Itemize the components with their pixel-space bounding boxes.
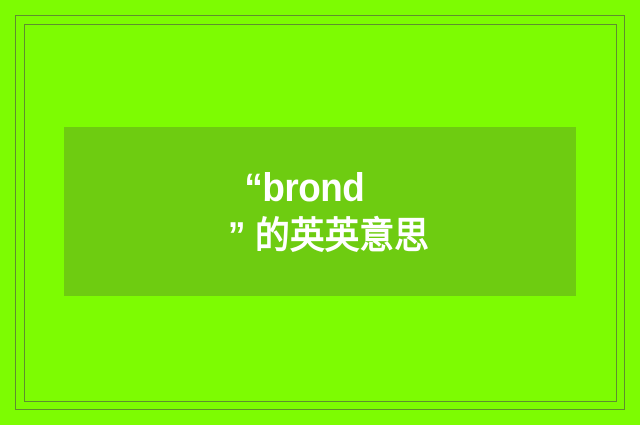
title-card: “brond ” 的英英意思: [64, 127, 576, 296]
poster-canvas: “brond ” 的英英意思: [0, 0, 640, 425]
title-line-primary: “brond: [84, 165, 555, 212]
title-line-secondary: ” 的英英意思: [79, 214, 560, 258]
title-block: “brond ” 的英英意思: [64, 165, 576, 258]
